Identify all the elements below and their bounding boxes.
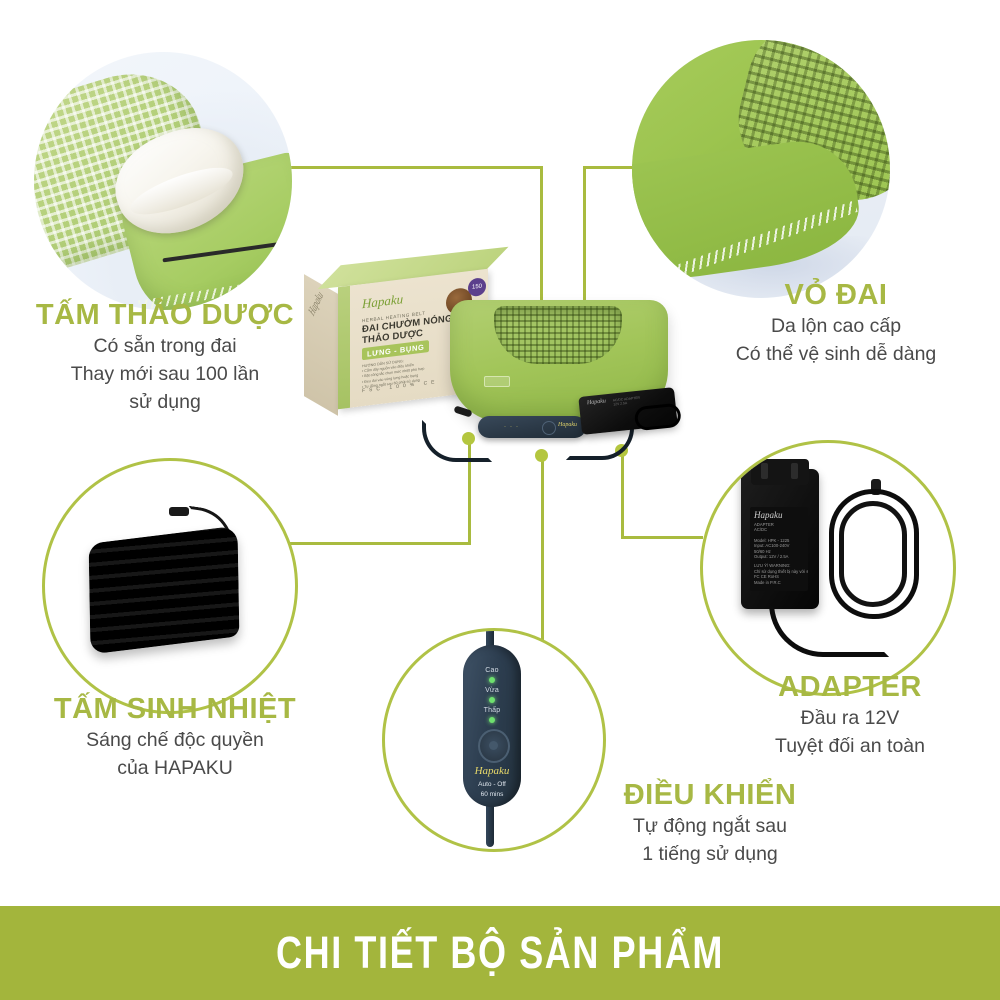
feature-desc-adapter-line1: Đầu ra 12V	[700, 704, 1000, 732]
feature-title-controller: ĐIỀU KHIỂN	[560, 778, 860, 812]
adapter-mini-specs: AC/DC ADAPTER12V 2.5A	[613, 396, 641, 408]
product-box-brand-logo: Hapaku	[362, 291, 403, 312]
feature-block-herbal-pad: TẤM THẢO DƯỢC Có sẵn trong đai Thay mới …	[0, 298, 330, 416]
pad-plug-icon	[169, 507, 189, 516]
controller-level-low-label: Thấp	[463, 707, 521, 714]
adapter-brand: Hapaku	[754, 510, 804, 520]
adapter-mini-cable	[634, 403, 682, 432]
connector-line-herbal-horizontal	[260, 166, 543, 169]
belt-brand-tab	[484, 376, 510, 387]
controller-knob-icon	[542, 421, 556, 435]
adapter-spec-label: Hapaku ADAPTER AC/DC Model: HPK - 1225 I…	[750, 507, 808, 591]
feature-desc-herbal-pad-line1: Có sẵn trong đai	[0, 332, 330, 360]
controller-level-high-label: Cao	[463, 667, 521, 674]
connector-line-adapter-horizontal	[621, 536, 703, 539]
controller-auto-off-time: 60 mins	[463, 791, 521, 799]
product-box-badge: 150	[468, 277, 486, 297]
feature-desc-controller-line1: Tự động ngắt sau	[560, 812, 860, 840]
feature-desc-controller-line2: 1 tiếng sử dụng	[560, 840, 860, 868]
infographic-canvas: Cao Vừa Thấp Hapaku Auto - Off 60 mins H…	[0, 0, 1000, 1000]
feature-desc-belt-shell-line1: Da lộn cao cấp	[672, 312, 1000, 340]
feature-block-belt-shell: VỎ ĐAI Da lộn cao cấp Có thể vệ sinh dễ …	[672, 278, 1000, 368]
photo-herbal-pad	[34, 52, 292, 310]
feature-block-heating-pad: TẤM SINH NHIỆT Sáng chế độc quyền của HA…	[0, 692, 350, 782]
bottom-banner: CHI TIẾT BỘ SẢN PHẨM	[0, 906, 1000, 1000]
feature-title-heating-pad: TẤM SINH NHIỆT	[0, 692, 350, 726]
adapter-cable-coil-inner	[839, 501, 907, 607]
controller-power-button[interactable]	[478, 729, 510, 763]
feature-desc-belt-shell-line2: Có thể vệ sinh dễ dàng	[672, 340, 1000, 368]
feature-desc-heating-pad-line1: Sáng chế độc quyền	[0, 726, 350, 754]
feature-title-herbal-pad: TẤM THẢO DƯỢC	[0, 298, 330, 332]
feature-desc-heating-pad-line2: của HAPAKU	[0, 754, 350, 782]
adapter-prongs	[751, 459, 809, 485]
adapter-origin: Made in P.R.C	[754, 580, 804, 585]
controller-led-row-icon: ···	[504, 424, 522, 430]
adapter-mini-brand: Hapaku	[587, 398, 607, 406]
adapter-pin-right	[791, 463, 798, 479]
feature-desc-herbal-pad-line2: Thay mới sau 100 lần	[0, 360, 330, 388]
photo-belt-shell	[632, 40, 890, 298]
belt-mesh-interior	[494, 306, 622, 364]
feature-desc-herbal-pad-line3: sử dụng	[0, 388, 330, 416]
belt-connector-plug	[453, 405, 472, 417]
product-controller: ··· Hapaku	[478, 416, 586, 438]
feature-desc-adapter-line2: Tuyệt đối an toàn	[700, 732, 1000, 760]
feature-block-adapter: ADAPTER Đầu ra 12V Tuyệt đối an toàn	[700, 670, 1000, 760]
feature-title-belt-shell: VỎ ĐAI	[672, 278, 1000, 312]
led-low-icon	[489, 717, 495, 723]
led-high-icon	[489, 677, 495, 683]
feature-title-adapter: ADAPTER	[700, 670, 1000, 704]
feature-block-controller: ĐIỀU KHIỂN Tự động ngắt sau 1 tiếng sử d…	[560, 778, 860, 868]
controller-level-medium-label: Vừa	[463, 687, 521, 694]
controller-auto-off-label: Auto - Off	[463, 781, 521, 789]
heating-pad-body	[89, 526, 240, 655]
photo-heating-pad	[42, 458, 298, 714]
controller-mini-brand: Hapaku	[558, 422, 577, 428]
product-box-green-band	[338, 286, 350, 409]
connector-line-pad-horizontal	[289, 542, 471, 545]
adapter-pin-left	[761, 463, 768, 479]
led-medium-icon	[489, 697, 495, 703]
photo-adapter: Hapaku ADAPTER AC/DC Model: HPK - 1225 I…	[700, 440, 956, 696]
controller-brand-label: Hapaku	[463, 765, 521, 777]
center-product-group: Hapaku Hapaku HERBAL HEATING BELT ĐAI CH…	[330, 268, 680, 490]
adapter-cable-tail	[769, 603, 889, 657]
banner-title: CHI TIẾT BỘ SẢN PHẨM	[276, 927, 724, 979]
controller-body: Cao Vừa Thấp Hapaku Auto - Off 60 mins	[463, 645, 521, 807]
